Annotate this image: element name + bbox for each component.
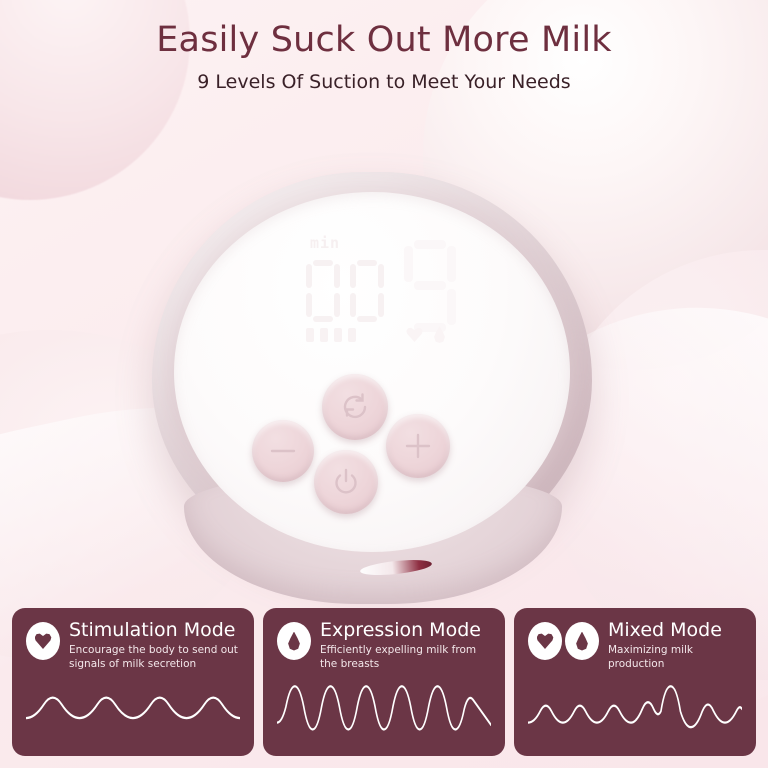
waveform-mixed [528, 684, 742, 734]
led-battery-indicator [306, 328, 356, 342]
breast-pump-device: min [152, 172, 592, 592]
page-subtitle: 9 Levels Of Suction to Meet Your Needs [0, 71, 768, 93]
mode-description: Encourage the body to send out signals o… [69, 644, 240, 671]
product-marketing-image: Easily Suck Out More Milk 9 Levels Of Su… [0, 0, 768, 768]
droplet-icon [575, 632, 589, 651]
mode-title: Stimulation Mode [69, 621, 240, 641]
mode-card-mixed[interactable]: Mixed Mode Maximizing milk production [514, 608, 756, 756]
plus-icon [403, 431, 433, 461]
card-icon-group [277, 622, 311, 660]
card-header: Expression Mode Efficiently expelling mi… [277, 621, 491, 671]
headline-block: Easily Suck Out More Milk 9 Levels Of Su… [0, 22, 768, 93]
mode-card-expression[interactable]: Expression Mode Efficiently expelling mi… [263, 608, 505, 756]
droplet-icon-badge [565, 622, 599, 660]
led-display: min [282, 234, 482, 354]
droplet-icon [433, 326, 446, 343]
card-text: Stimulation Mode Encourage the body to s… [69, 621, 240, 671]
waveform-path [277, 686, 491, 729]
led-suction-level-digit [404, 240, 456, 332]
mode-description: Efficiently expelling milk from the brea… [320, 644, 491, 671]
card-icon-group [528, 622, 599, 660]
minus-button[interactable] [252, 420, 314, 482]
waveform-stimulation [26, 684, 240, 734]
mode-title: Mixed Mode [608, 621, 742, 641]
droplet-icon [287, 632, 301, 651]
card-header: Stimulation Mode Encourage the body to s… [26, 621, 240, 671]
waveform-expression [277, 684, 491, 734]
waveform-path [528, 686, 742, 727]
heart-icon [537, 633, 554, 649]
mode-description: Maximizing milk production [608, 644, 742, 671]
heart-icon [406, 327, 423, 342]
device-control-panel: min [174, 192, 570, 552]
card-header: Mixed Mode Maximizing milk production [528, 621, 742, 671]
minus-icon [268, 444, 298, 458]
page-title: Easily Suck Out More Milk [0, 22, 768, 59]
led-unit-label: min [310, 234, 340, 252]
plus-button[interactable] [386, 414, 450, 478]
card-text: Mixed Mode Maximizing milk production [608, 621, 742, 671]
mode-card-list: Stimulation Mode Encourage the body to s… [0, 608, 768, 756]
mode-card-stimulation[interactable]: Stimulation Mode Encourage the body to s… [12, 608, 254, 756]
card-icon-group [26, 622, 60, 660]
droplet-icon-badge [277, 622, 311, 660]
heart-icon-badge [26, 622, 60, 660]
led-timer-digit-ones [350, 260, 384, 322]
power-icon [330, 466, 362, 498]
power-button[interactable] [314, 450, 378, 514]
card-text: Expression Mode Efficiently expelling mi… [320, 621, 491, 671]
mode-title: Expression Mode [320, 621, 491, 641]
heart-icon-badge [528, 622, 562, 660]
waveform-path [26, 698, 240, 718]
mode-button[interactable] [322, 374, 388, 440]
led-timer-digit-tens [306, 260, 340, 322]
led-mode-indicators [406, 326, 446, 343]
heart-icon [35, 633, 52, 649]
cycle-arrows-icon [338, 390, 372, 424]
